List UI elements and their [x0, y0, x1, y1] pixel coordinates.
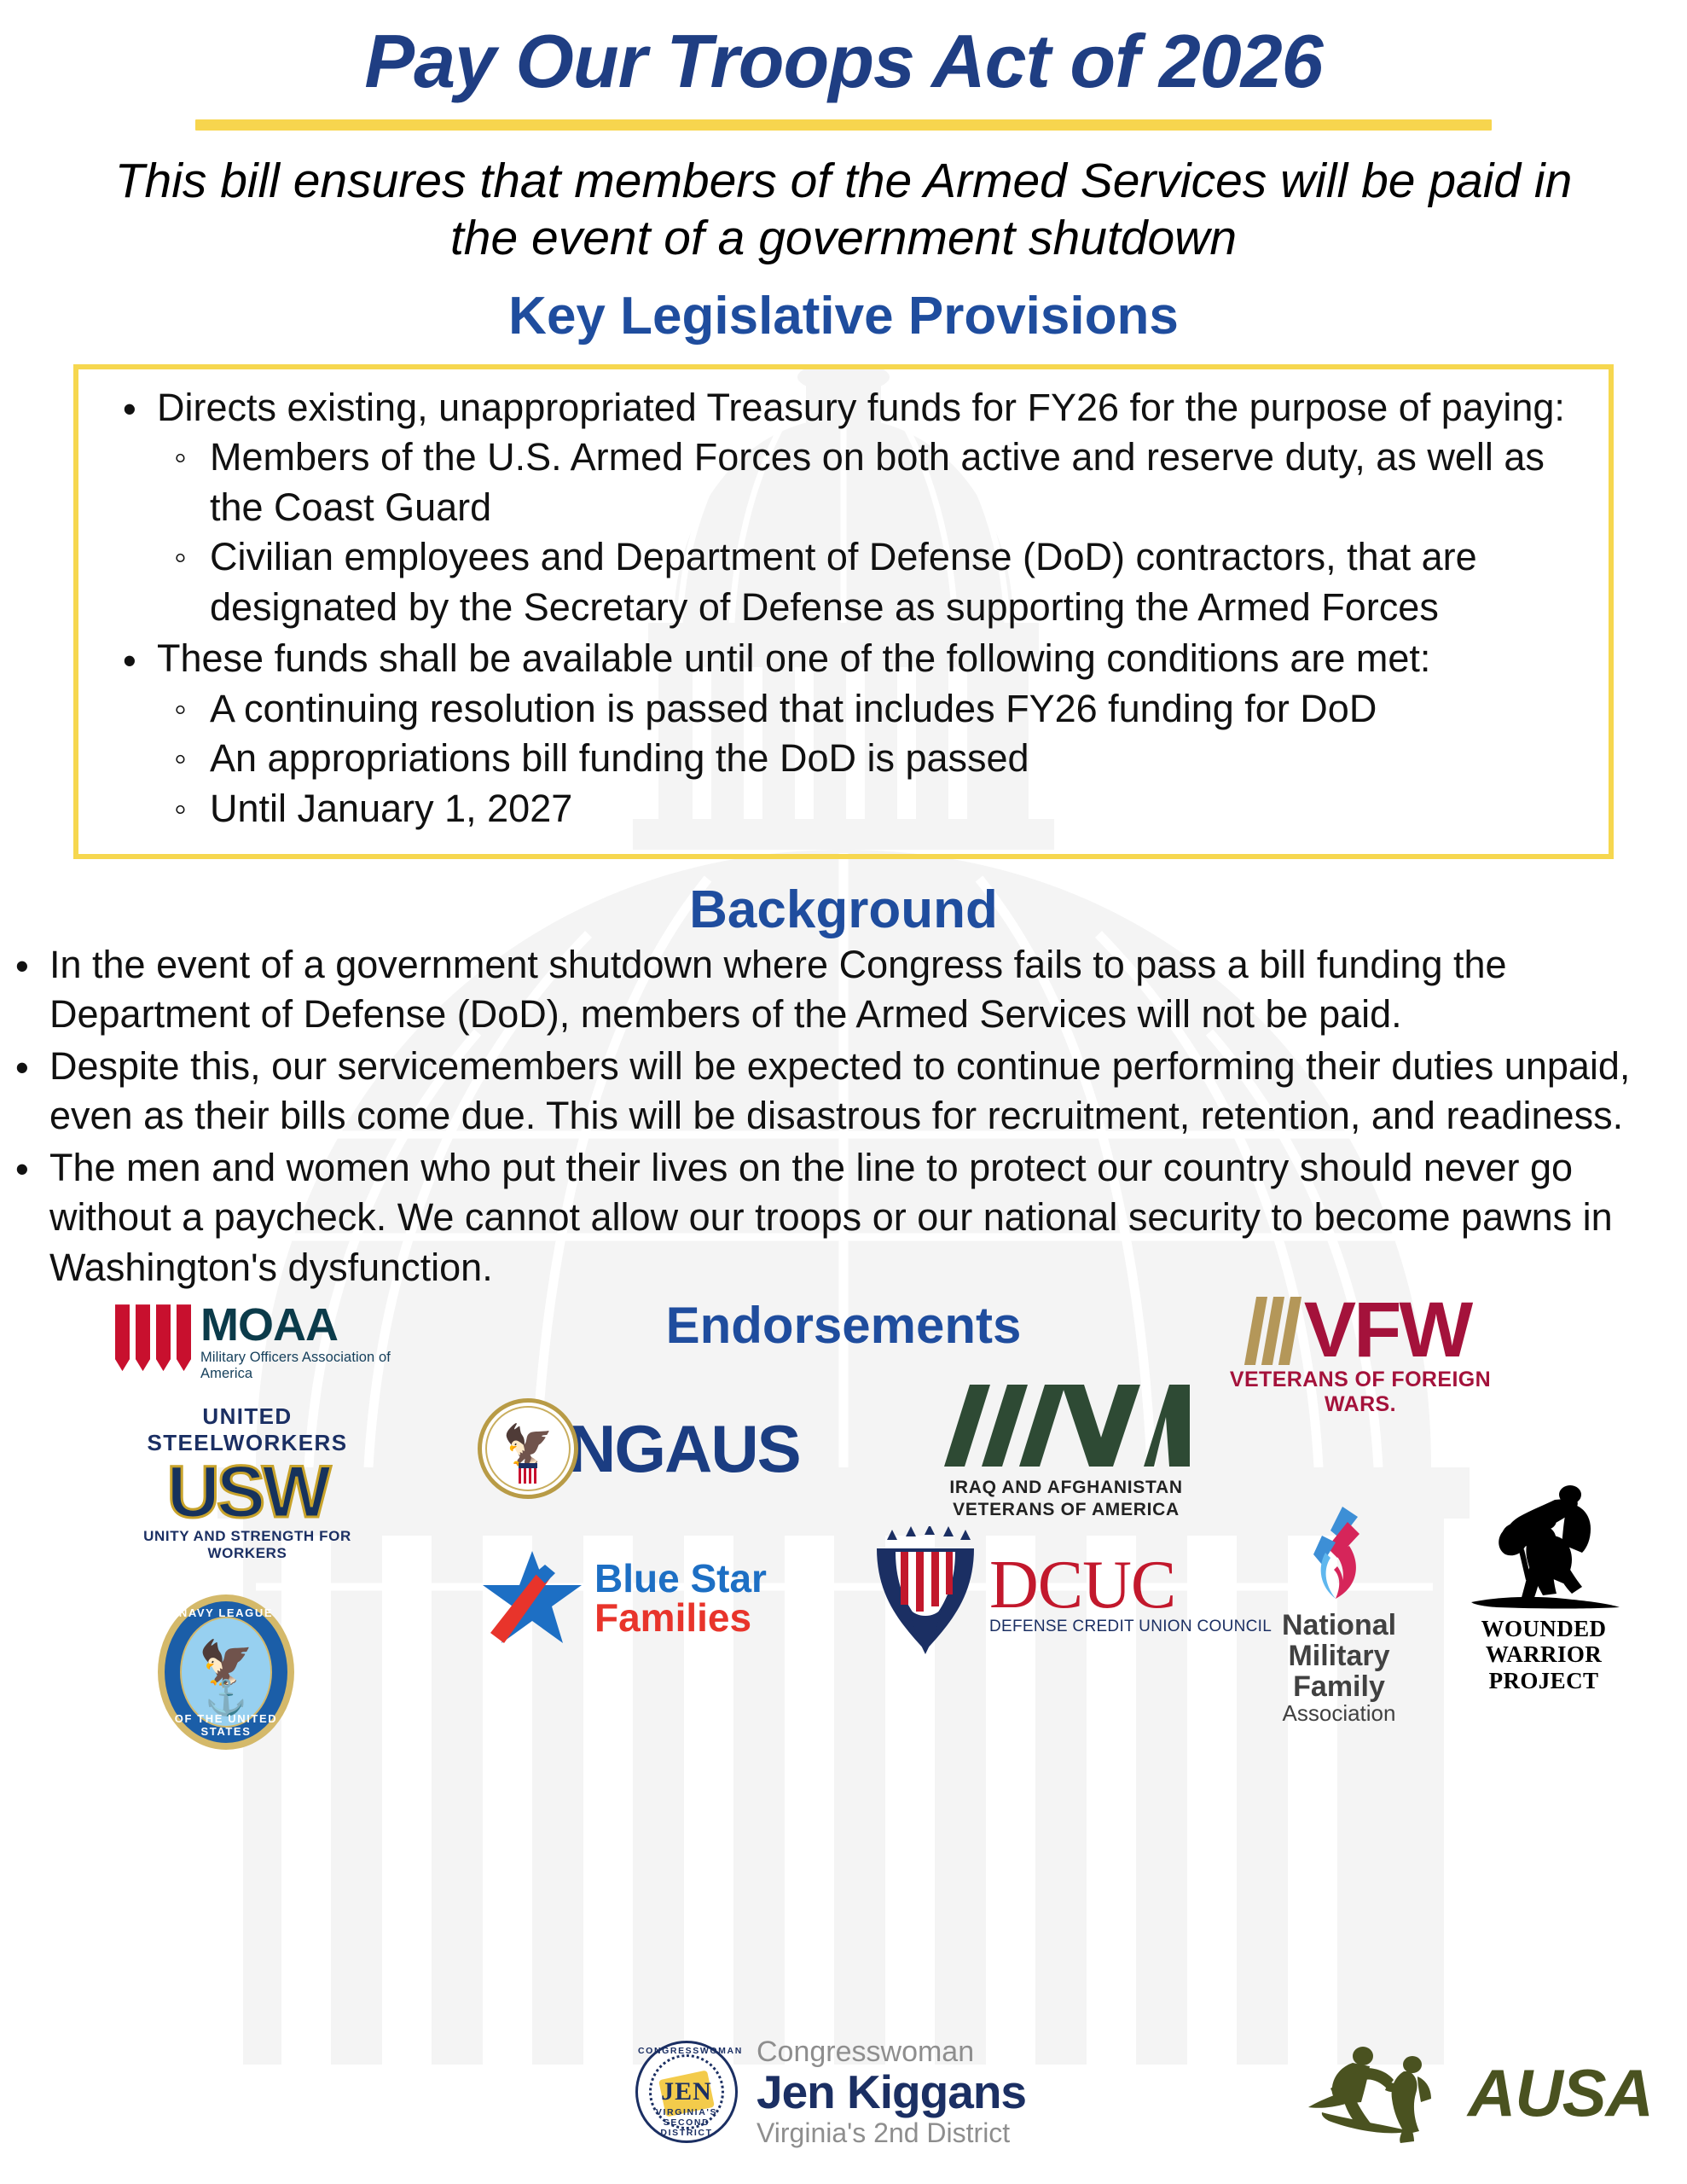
logo-dcuc: DCUC DEFENSE CREDIT UNION COUNCIL — [870, 1526, 1272, 1663]
logo-usw: UNITED STEELWORKERS USW UNITY AND STRENG… — [119, 1403, 375, 1562]
list-item: • In the event of a government shutdown … — [0, 940, 1687, 1040]
usw-wordmark: USW — [119, 1459, 375, 1526]
seal-initials: JEN — [661, 2077, 712, 2106]
congresswoman-prefix: Congresswoman — [757, 2037, 1026, 2066]
wounded-warrior-silhouette-icon — [1463, 1479, 1625, 1612]
bullet-disc-icon: • — [15, 1043, 29, 1094]
list-item: • The men and women who put their lives … — [0, 1143, 1687, 1293]
logo-wounded-warrior-project: WOUNDED WARRIOR PROJECT — [1424, 1479, 1663, 1693]
bsf-line2: Families — [594, 1598, 767, 1637]
provisions-box: • Directs existing, unappropriated Treas… — [73, 364, 1614, 860]
ausa-soldiers-icon — [1305, 2042, 1463, 2143]
bsf-line1: Blue Star — [594, 1559, 767, 1598]
navy-league-bottom-text: OF THE UNITED STATES — [165, 1712, 287, 1738]
congresswoman-district: Virginia's 2nd District — [757, 2119, 1026, 2146]
logo-national-military-family-association: National Military Family Association — [1254, 1505, 1424, 1726]
logo-ngaus: 🦅 NGAUS — [478, 1398, 800, 1499]
list-item: ◦ Until January 1, 2027 — [157, 784, 1580, 834]
provisions-sublist: ◦ A continuing resolution is passed that… — [157, 684, 1580, 834]
bullet-circle-icon: ◦ — [174, 433, 187, 482]
provisions-sublist: ◦ Members of the U.S. Armed Forces on bo… — [157, 433, 1580, 632]
jen-kiggans-seal-icon: CONGRESSWOMAN JEN VIRGINIA'S SECOND DIST… — [635, 2041, 738, 2143]
flyer-page: Pay Our Troops Act of 2026 This bill ens… — [0, 0, 1687, 2184]
title-underline-rule — [195, 119, 1492, 131]
footer: CONGRESSWOMAN JEN VIRGINIA'S SECOND DIST… — [0, 2037, 1687, 2165]
vfw-subtitle: VETERANS OF FOREIGN WARS. — [1215, 1368, 1505, 1417]
dcuc-subtitle: DEFENSE CREDIT UNION COUNCIL — [989, 1618, 1272, 1636]
congresswoman-name: Jen Kiggans — [757, 2069, 1026, 2116]
page-subtitle: This bill ensures that members of the Ar… — [76, 153, 1611, 266]
navy-league-seal-icon: NAVY LEAGUE 🦅 ⚓ OF THE UNITED STATES — [158, 1594, 294, 1750]
bullet-disc-icon: • — [15, 942, 29, 992]
list-item-text: Directs existing, unappropriated Treasur… — [157, 383, 1580, 433]
bullet-circle-icon: ◦ — [174, 735, 187, 783]
logo-moaa: MOAA Military Officers Association of Am… — [115, 1304, 422, 1382]
nmfa-line3: Family — [1254, 1671, 1424, 1702]
list-item: • Despite this, our servicemembers will … — [0, 1042, 1687, 1141]
provisions-list: • Directs existing, unappropriated Treas… — [107, 383, 1580, 834]
wwp-line1: WOUNDED WARRIOR — [1424, 1616, 1663, 1667]
bullet-disc-icon: • — [123, 385, 136, 435]
nmfa-line1: National — [1254, 1610, 1424, 1641]
seal-bottom-text: VIRGINIA'S SECOND DISTRICT — [638, 2107, 735, 2138]
nmfa-line4: Association — [1254, 1702, 1424, 1726]
bullet-disc-icon: • — [123, 636, 136, 687]
ausa-wordmark: AUSA — [1468, 2054, 1653, 2132]
page-title: Pay Our Troops Act of 2026 — [0, 0, 1687, 101]
iava-mark-icon — [934, 1385, 1198, 1467]
list-item-text: These funds shall be available until one… — [157, 634, 1580, 684]
vfw-bars-icon — [1244, 1297, 1301, 1365]
congresswoman-branding: CONGRESSWOMAN JEN VIRGINIA'S SECOND DIST… — [635, 2037, 1026, 2146]
bullet-circle-icon: ◦ — [174, 685, 187, 734]
bullet-disc-icon: • — [15, 1145, 29, 1195]
usw-tagline: UNITY AND STRENGTH FOR WORKERS — [119, 1528, 375, 1562]
background-list: • In the event of a government shutdown … — [0, 940, 1687, 1293]
list-item-text: Members of the U.S. Armed Forces on both… — [210, 435, 1545, 529]
blue-star-icon — [482, 1548, 583, 1648]
bullet-circle-icon: ◦ — [174, 785, 187, 834]
national-guard-seal-icon: 🦅 — [478, 1398, 578, 1499]
list-item-text: The men and women who put their lives on… — [49, 1143, 1687, 1293]
nmfa-line2: Military — [1254, 1641, 1424, 1671]
list-item: ◦ Members of the U.S. Armed Forces on bo… — [157, 433, 1580, 532]
list-item-text: Civilian employees and Department of Def… — [210, 535, 1477, 629]
dcuc-eagle-icon — [870, 1526, 981, 1663]
list-item-text: A continuing resolution is passed that i… — [210, 687, 1377, 730]
usw-top-text: UNITED STEELWORKERS — [119, 1403, 375, 1456]
logo-blue-star-families: Blue Star Families — [482, 1548, 767, 1648]
list-item: ◦ An appropriations bill funding the DoD… — [157, 734, 1580, 784]
iava-subtitle: IRAQ AND AFGHANISTAN VETERANS OF AMERICA — [925, 1477, 1207, 1520]
moaa-wordmark: MOAA — [200, 1304, 422, 1347]
logo-ausa: AUSA — [1305, 2042, 1653, 2143]
background-heading: Background — [0, 881, 1687, 939]
logo-vfw: VFW VETERANS OF FOREIGN WARS. — [1215, 1296, 1505, 1417]
moaa-bars-icon — [115, 1304, 191, 1371]
list-item-text: An appropriations bill funding the DoD i… — [210, 736, 1029, 780]
list-item: ◦ A continuing resolution is passed that… — [157, 684, 1580, 735]
ngaus-wordmark: NGAUS — [568, 1410, 800, 1488]
list-item: ◦ Civilian employees and Department of D… — [157, 532, 1580, 632]
nmfa-flame-icon — [1296, 1505, 1382, 1600]
list-item-text: In the event of a government shutdown wh… — [49, 940, 1687, 1040]
list-item: • Directs existing, unappropriated Treas… — [107, 383, 1580, 633]
logo-iava: IRAQ AND AFGHANISTAN VETERANS OF AMERICA — [925, 1385, 1207, 1520]
provisions-heading: Key Legislative Provisions — [0, 288, 1687, 346]
wwp-line2: PROJECT — [1424, 1668, 1663, 1693]
endorsements-section: Endorsements MOAA Military Officers Asso… — [0, 1296, 1687, 1774]
bullet-circle-icon: ◦ — [174, 533, 187, 582]
list-item-text: Despite this, our servicemembers will be… — [49, 1042, 1687, 1141]
moaa-subtitle: Military Officers Association of America — [200, 1350, 422, 1382]
list-item-text: Until January 1, 2027 — [210, 787, 572, 830]
logo-navy-league: NAVY LEAGUE 🦅 ⚓ OF THE UNITED STATES — [158, 1594, 294, 1750]
list-item: • These funds shall be available until o… — [107, 634, 1580, 834]
vfw-wordmark: VFW — [1304, 1296, 1470, 1365]
dcuc-wordmark: DCUC — [989, 1553, 1272, 1618]
